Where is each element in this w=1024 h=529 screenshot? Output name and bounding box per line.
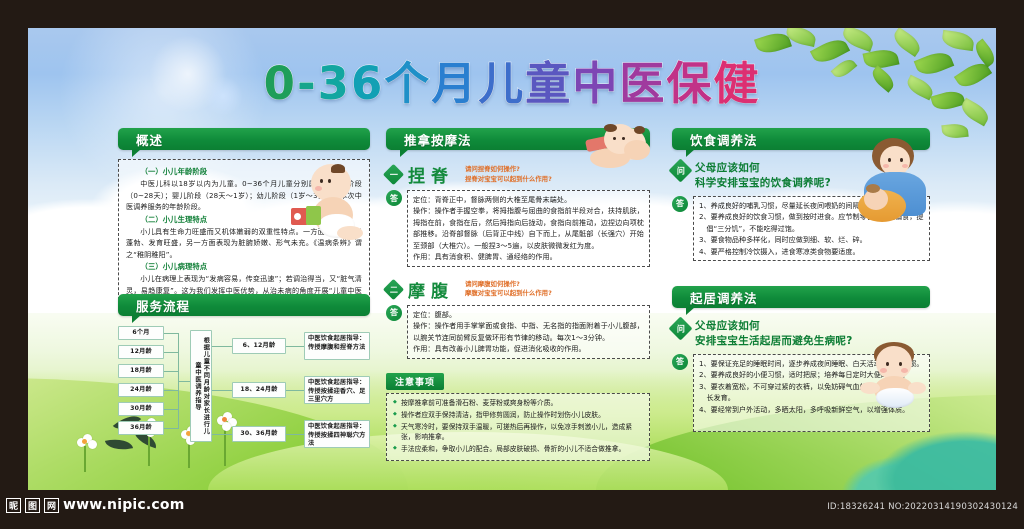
nieji-line-1: 操作：操作者手握空拳，将拇指腹与屈曲的食指前半段对合，扶持肌肤，拇指在前，食指在…	[413, 205, 644, 251]
poster-canvas: 0-36个月儿童中医保健 概述 （一）小儿年龄阶段中医儿科以18岁以内为儿童。0…	[28, 28, 996, 490]
flow-connector	[164, 409, 178, 410]
technique-nieji-question-2: 捏脊对宝宝可以起到什么作用?	[465, 175, 552, 185]
technique-nieji: 一 捏脊 请问捏脊如何操作? 捏脊对宝宝可以起到什么作用? 答 定位：背脊正中，…	[386, 162, 650, 267]
flow-connector	[212, 346, 232, 347]
logo-char-3: 网	[44, 498, 59, 513]
overview-content-box: （一）小儿年龄阶段中医儿科以18岁以内为儿童。0~36个月儿童分别属于新生儿阶段…	[118, 159, 370, 305]
technique-nieji-header: 一 捏脊 请问捏脊如何操作? 捏脊对宝宝可以起到什么作用?	[386, 162, 650, 187]
overview-subhead-1: （二）小儿生理特点	[126, 213, 362, 226]
service-flow-banner-label: 服务流程	[136, 296, 190, 315]
title-char-7: 童	[525, 61, 572, 106]
massage-notes-list: 按摩推拿前可准备滑石粉、麦芽粉或爽身粉等介质。操作者应双手保持清洁，指甲修剪圆润…	[393, 398, 643, 455]
overview-banner-label: 概述	[136, 130, 163, 149]
technique-nieji-question-1: 请问捏脊如何操作?	[465, 165, 552, 175]
site-url: www.nipic.com	[63, 497, 185, 513]
living-item: 1、要保证充足的睡眠时间，逐步养成夜间睡眠、白天活动的作息习惯。	[699, 358, 924, 369]
massage-note-item: 按摩推拿前可准备滑石粉、麦芽粉或爽身粉等介质。	[393, 398, 643, 409]
flow-stage-node: 30、36月龄	[232, 426, 286, 442]
title-char-1: -	[297, 61, 318, 106]
living-question-line-2: 安排宝宝生活起居而避免生病呢?	[695, 334, 853, 349]
logo-char-2: 图	[25, 498, 40, 513]
answer-badge-icon: 答	[672, 354, 688, 370]
massage-panel: 推拿按摩法 一 捏脊 请问捏脊如何操作? 捏脊对宝宝可以起到什么作用? 答 定位…	[386, 128, 650, 461]
diamond-marker-two-icon: 二	[383, 279, 404, 300]
nieji-line-0: 定位：背脊正中，督脉两侧的大椎至尾骨末端处。	[413, 194, 644, 205]
diet-item: 4、要严格控制冷饮摄入，进食寒凉类食物要适度。	[699, 246, 924, 257]
overview-text: （一）小儿年龄阶段中医儿科以18岁以内为儿童。0~36个月儿童分别属于新生儿阶段…	[126, 165, 362, 308]
question-badge-label: 问	[677, 323, 685, 334]
living-answer-row: 答 1、要保证充足的睡眠时间，逐步养成夜间睡眠、白天活动的作息习惯。2、要养成良…	[672, 354, 930, 432]
living-question-row: 问 父母应该如何 安排宝宝生活起居而避免生病呢?	[672, 320, 930, 349]
overview-subhead-2: （三）小儿病理特点	[126, 260, 362, 273]
overview-paragraph-1: 小儿具有生命力旺盛而又机体嫩弱的双重性特点。一方面表现为生机蓬勃、发育旺盛，另一…	[126, 226, 362, 260]
flow-age-node: 18月龄	[118, 364, 164, 378]
flow-connector	[286, 346, 304, 347]
flow-age-node: 36月龄	[118, 421, 164, 435]
title-char-10: 保	[666, 61, 713, 106]
flow-connector	[164, 333, 178, 334]
answer-badge-icon: 答	[386, 190, 402, 206]
flow-age-node: 30月龄	[118, 402, 164, 416]
flow-age-node: 6个月	[118, 326, 164, 340]
technique-nieji-title: 捏脊	[408, 162, 454, 187]
diet-item: 2、要养成良好的饮食习惯，做到按时进食。应节制零食，避免偏食，提倡“三分饥”，不…	[699, 211, 924, 234]
diet-banner-label: 饮食调养法	[690, 130, 758, 149]
answer-badge-label: 答	[390, 307, 398, 318]
question-badge-icon: 问	[668, 158, 692, 182]
title-char-6: 儿	[478, 61, 525, 106]
technique-mofu-answer-row: 答 定位：腹部。操作：操作者用手掌掌面或食指、中指、无名指的指面附着于小儿腹部，…	[386, 305, 650, 359]
service-flow-banner: 服务流程	[118, 294, 370, 316]
diet-answer-row: 答 1、养成良好的哺乳习惯，尽量延长夜间喂奶的间隔时间。2、要养成良好的饮食习惯…	[672, 196, 930, 261]
diet-question-line-1: 父母应该如何	[695, 161, 831, 176]
diamond-marker-one-icon: 一	[383, 164, 404, 185]
flow-output-node: 中医饮食起居指导：传授按揉四神聪穴方法	[304, 420, 370, 448]
diet-banner: 饮食调养法	[672, 128, 930, 150]
technique-mofu-question-2: 摩腹对宝宝可以起到什么作用?	[465, 289, 552, 299]
title-char-9: 医	[619, 61, 666, 106]
watermark-footer: 昵 图 网 www.nipic.com ID:18326241 NO:20220…	[0, 490, 1024, 529]
nieji-line-2: 作用：具有消食积、健脾胃、通经络的作用。	[413, 251, 644, 262]
flow-age-node: 12月龄	[118, 345, 164, 359]
diet-question-line-2: 科学安排宝宝的饮食调养呢?	[695, 176, 831, 191]
mofu-line-1: 操作：操作者用手掌掌面或食指、中指、无名指的指面附着于小儿腹部，以腕关节连同前臂…	[413, 320, 644, 343]
overview-banner: 概述	[118, 128, 370, 150]
logo-char-1: 昵	[6, 498, 21, 513]
diet-item: 3、要食物品种多样化，同时应做到细、软、烂、碎。	[699, 234, 924, 245]
title-char-2: 3	[318, 61, 351, 106]
technique-mofu-title: 摩腹	[408, 277, 454, 302]
service-flow-panel: 服务流程 6个月12月龄18月龄24月龄30月龄36月龄根据儿童不同月龄对家长进…	[118, 294, 370, 446]
technique-mofu-header: 二 摩腹 请问摩腹如何操作? 摩腹对宝宝可以起到什么作用?	[386, 277, 650, 302]
mofu-line-2: 作用：具有改善小儿脾胃功能，促进消化吸收的作用。	[413, 343, 644, 354]
living-list: 1、要保证充足的睡眠时间，逐步养成夜间睡眠、白天活动的作息习惯。2、要养成良好的…	[699, 358, 924, 415]
flow-connector	[164, 371, 178, 372]
living-question-line-1: 父母应该如何	[695, 319, 853, 334]
title-char-3: 6	[351, 61, 384, 106]
flow-output-node: 中医饮食起居指导：传授摩腹和捏脊方法	[304, 332, 370, 360]
technique-nieji-content: 定位：背脊正中，督脉两侧的大椎至尾骨末端处。操作：操作者手握空拳，将拇指腹与屈曲…	[407, 190, 650, 267]
title-char-11: 健	[713, 61, 760, 106]
flow-stage-node: 6、12月龄	[232, 338, 286, 354]
flow-connector	[164, 352, 178, 353]
living-content-box: 1、要保证充足的睡眠时间，逐步养成夜间睡眠、白天活动的作息习惯。2、要养成良好的…	[693, 354, 930, 432]
diet-content-box: 1、养成良好的哺乳习惯，尽量延长夜间喂奶的间隔时间。2、要养成良好的饮食习惯，做…	[693, 196, 930, 261]
flow-connector	[164, 428, 178, 429]
living-panel: 起居调养法 问 父母应该如何 安排宝宝生活起居而避免生病呢? 答 1、要保证充足…	[672, 286, 930, 432]
answer-badge-label: 答	[676, 198, 684, 209]
living-banner-label: 起居调养法	[690, 288, 758, 307]
massage-notes: 注意事项 按摩推拿前可准备滑石粉、麦芽粉或爽身粉等介质。操作者应双手保持清洁，指…	[386, 370, 650, 461]
answer-badge-icon: 答	[386, 305, 402, 321]
technique-mofu-text: 定位：腹部。操作：操作者用手掌掌面或食指、中指、无名指的指面附着于小儿腹部，以腕…	[413, 309, 644, 355]
diet-question-row: 问 父母应该如何 科学安排宝宝的饮食调养呢?	[672, 162, 930, 191]
massage-banner: 推拿按摩法	[386, 128, 650, 150]
page-title: 0-36个月儿童中医保健	[28, 61, 996, 106]
image-id-code: ID:18326241 NO:20220314190302430124	[827, 502, 1018, 512]
marker-label: 一	[390, 169, 398, 180]
living-item: 2、要养成良好的小便习惯，适时把尿；培养每日定时大便的习惯。	[699, 369, 924, 380]
massage-note-item: 操作者应双手保持清洁，指甲修剪圆润，防止操作时划伤小儿皮肤。	[393, 410, 643, 421]
flow-connector	[164, 390, 178, 391]
diet-item: 1、养成良好的哺乳习惯，尽量延长夜间喂奶的间隔时间。	[699, 200, 924, 211]
massage-note-item: 手法应柔和，争取小儿的配合。局部皮肤破损、骨折的小儿不适合做推拿。	[393, 444, 643, 455]
overview-panel: 概述 （一）小儿年龄阶段中医儿科以18岁以内为儿童。0~36个月儿童分别属于新生…	[118, 128, 370, 305]
technique-mofu-question-1: 请问摩腹如何操作?	[465, 280, 552, 290]
title-char-0: 0	[264, 61, 297, 106]
flow-connector	[286, 390, 304, 391]
living-item: 4、要经常到户外活动，多晒太阳，多呼吸新鲜空气，以增强体质。	[699, 404, 924, 415]
overview-subhead-0: （一）小儿年龄阶段	[126, 165, 362, 178]
technique-mofu-content: 定位：腹部。操作：操作者用手掌掌面或食指、中指、无名指的指面附着于小儿腹部，以腕…	[407, 305, 650, 359]
technique-mofu: 二 摩腹 请问摩腹如何操作? 摩腹对宝宝可以起到什么作用? 答 定位：腹部。操作…	[386, 277, 650, 359]
answer-badge-label: 答	[390, 193, 398, 204]
service-flow-chart: 6个月12月龄18月龄24月龄30月龄36月龄根据儿童不同月龄对家长进行儿童中医…	[118, 326, 370, 446]
flow-connector	[286, 434, 304, 435]
question-badge-label: 问	[677, 165, 685, 176]
question-badge-icon: 问	[668, 316, 692, 340]
answer-badge-icon: 答	[672, 196, 688, 212]
flow-connector	[212, 390, 232, 391]
living-item: 3、要衣着宽松，不可穿过紧的衣裤，以免妨碍气血的流通，影响骨骼生长发育。	[699, 381, 924, 404]
massage-banner-label: 推拿按摩法	[404, 130, 472, 149]
technique-nieji-answer-row: 答 定位：背脊正中，督脉两侧的大椎至尾骨末端处。操作：操作者手握空拳，将拇指腹与…	[386, 190, 650, 267]
mofu-line-0: 定位：腹部。	[413, 309, 644, 320]
living-banner: 起居调养法	[672, 286, 930, 308]
diet-list: 1、养成良好的哺乳习惯，尽量延长夜间喂奶的间隔时间。2、要养成良好的饮食习惯，做…	[699, 200, 924, 257]
flow-output-node: 中医饮食起居指导：传授按揉迎香穴、足三里穴方	[304, 376, 370, 404]
title-char-8: 中	[572, 61, 619, 106]
diet-panel: 饮食调养法 问 父母应该如何 科学安排宝宝的饮食调养呢? 答 1、养成良好的哺乳…	[672, 128, 930, 261]
title-char-4: 个	[384, 61, 431, 106]
flow-connector	[178, 381, 190, 382]
overview-paragraph-0: 中医儿科以18岁以内为儿童。0~36个月儿童分别属于新生儿阶段（0~28天）；婴…	[126, 178, 362, 212]
flow-stage-node: 18、24月龄	[232, 382, 286, 398]
massage-note-item: 天气寒冷时，要保持双手温暖，可搓热后再操作，以免凉手刺激小儿，造成紧张，影响推拿…	[393, 422, 643, 444]
marker-label: 二	[390, 284, 398, 295]
technique-nieji-text: 定位：背脊正中，督脉两侧的大椎至尾骨末端处。操作：操作者手握空拳，将拇指腹与屈曲…	[413, 194, 644, 263]
answer-badge-label: 答	[676, 356, 684, 367]
flow-connector	[212, 434, 232, 435]
flow-age-node: 24月龄	[118, 383, 164, 397]
massage-notes-title: 注意事项	[386, 373, 444, 390]
title-char-5: 月	[431, 61, 478, 106]
flow-middle-node: 根据儿童不同月龄对家长进行儿童中医调养指导	[190, 330, 212, 442]
massage-notes-box: 按摩推拿前可准备滑石粉、麦芽粉或爽身粉等介质。操作者应双手保持清洁，指甲修剪圆润…	[386, 393, 650, 461]
site-logo: 昵 图 网 www.nipic.com	[6, 497, 185, 513]
